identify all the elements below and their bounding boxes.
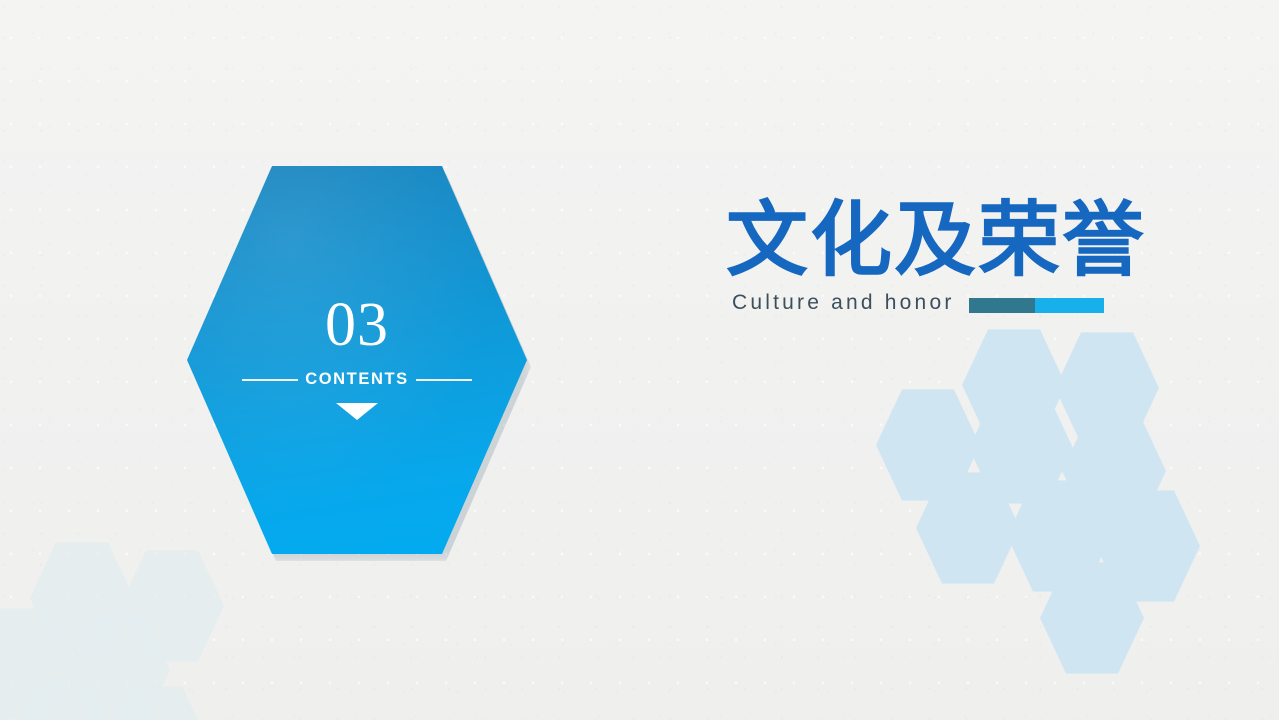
decorative-hexagon xyxy=(104,684,208,720)
hexagon-body: 03 CONTENTS xyxy=(187,166,527,554)
decorative-hexagon xyxy=(120,548,224,664)
decorative-hexagon xyxy=(916,470,1020,586)
page-subtitle: Culture and honor xyxy=(732,291,955,315)
slide-canvas: 03 CONTENTS 文化及荣誉 Culture and honor xyxy=(0,0,1279,720)
decorative-hexagon xyxy=(30,540,134,656)
decorative-hexagon xyxy=(12,678,116,720)
contents-label-row: CONTENTS xyxy=(187,370,527,389)
decorative-hexagon xyxy=(876,387,980,503)
section-number: 03 xyxy=(325,294,389,356)
decorative-hexagon xyxy=(1040,560,1144,676)
decorative-hexagon xyxy=(1062,413,1166,529)
triangle-down-icon xyxy=(336,403,378,420)
contents-label: CONTENTS xyxy=(305,370,409,389)
heading-block: 文化及荣誉 Culture and honor xyxy=(726,198,1146,315)
accent-bar-segment-right xyxy=(1035,298,1104,313)
subtitle-row: Culture and honor xyxy=(732,291,1146,315)
decorative-hexagon xyxy=(962,327,1066,443)
decorative-hexagon xyxy=(969,390,1073,506)
decorative-hexagon xyxy=(0,606,76,720)
decorative-hexagon xyxy=(66,612,170,720)
accent-bar-segment-left xyxy=(969,298,1035,313)
accent-bar xyxy=(969,298,1104,313)
section-number-hexagon: 03 CONTENTS xyxy=(187,166,527,554)
decorative-hexagon xyxy=(1096,488,1200,604)
page-title: 文化及荣誉 xyxy=(726,198,1146,283)
rule-left-icon xyxy=(242,379,298,381)
decorative-hexagon xyxy=(1055,330,1159,446)
decorative-hexagon xyxy=(1007,478,1111,594)
rule-right-icon xyxy=(416,379,472,381)
